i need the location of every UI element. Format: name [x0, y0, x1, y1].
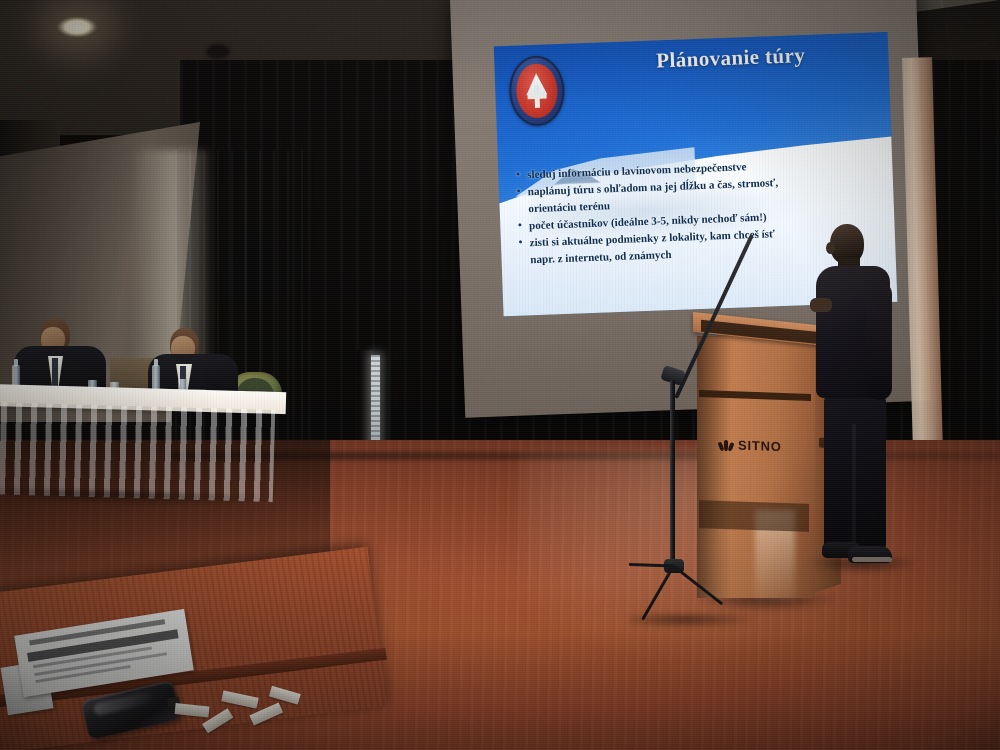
- mic-center-pole: [670, 380, 675, 572]
- mic-tripod-leg: [629, 563, 674, 568]
- presenter-shoe-sole: [852, 557, 892, 562]
- presenter-leg-separation: [852, 424, 856, 548]
- microphone-stand: [612, 218, 782, 618]
- mic-boom-arm: [674, 234, 754, 399]
- presenter-hand: [810, 298, 832, 312]
- ceiling-downlight: [56, 16, 98, 38]
- conference-hall-photo: Plánovanie túry sleduj informáciu o laví…: [0, 0, 1000, 750]
- presenter-ear: [826, 242, 835, 254]
- table-skirt: [0, 402, 275, 502]
- presenter-at-podium: [812, 224, 904, 574]
- presenter-arm: [866, 282, 892, 400]
- mic-tripod-leg: [641, 565, 675, 620]
- mic-stand-shadow: [630, 614, 760, 628]
- panel-table: [0, 388, 286, 498]
- logo-ring-outline: [508, 55, 566, 127]
- lanyard-strap-segment: [221, 690, 259, 708]
- lanyard-strap-segment: [269, 686, 301, 705]
- ceiling-speaker-icon: [208, 46, 228, 57]
- horska-zachranna-sluzba-logo: [508, 55, 566, 127]
- lanyard-strap-segment: [175, 703, 210, 717]
- mic-tripod-leg: [673, 565, 724, 606]
- panelist-tie: [52, 358, 58, 388]
